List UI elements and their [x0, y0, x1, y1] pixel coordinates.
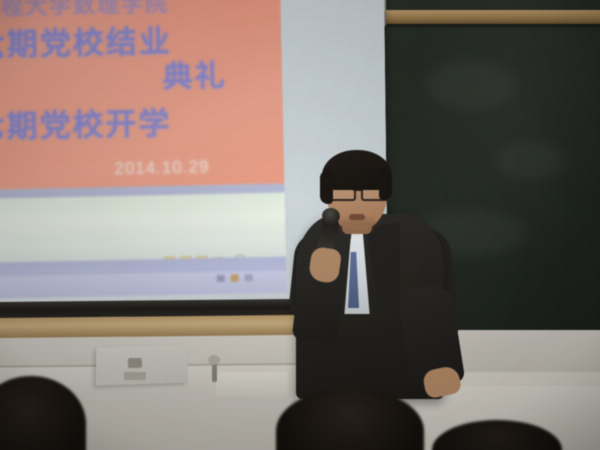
system-tray — [217, 274, 253, 282]
speaker-chin-shadow — [336, 218, 378, 232]
presentation-slide: 工程大学数理学院 六期党校结业 典礼 七期党校开学 2014.10.29 — [0, 0, 285, 190]
lecture-hall-photo: 工程大学数理学院 六期党校结业 典礼 七期党校开学 2014.10.29 23%… — [0, 0, 600, 450]
chalk-rail — [386, 10, 600, 24]
projected-image: 工程大学数理学院 六期党校结业 典礼 七期党校开学 2014.10.29 23%… — [0, 0, 287, 300]
slide-heading-line-2: 典礼 — [162, 51, 227, 96]
speaker-hair-right-side — [379, 168, 392, 200]
tray-volume-icon[interactable] — [231, 275, 239, 282]
slide-date: 2014.10.29 — [114, 157, 209, 179]
speaker-mouth — [349, 214, 365, 220]
tray-network-icon[interactable] — [217, 275, 225, 282]
tray-clock-icon[interactable] — [245, 274, 253, 281]
slide-heading-line-1: 六期党校结业 — [0, 16, 172, 65]
app-workspace-band: 23% — [0, 193, 286, 243]
monitor-camera-housing — [128, 358, 142, 368]
slide-heading-line-3: 七期党校开学 — [0, 98, 172, 147]
desk-microphone-head — [208, 355, 220, 365]
podium-document — [216, 371, 288, 396]
speaker-hair-left-side — [320, 170, 333, 204]
monitor-stand — [124, 372, 146, 380]
